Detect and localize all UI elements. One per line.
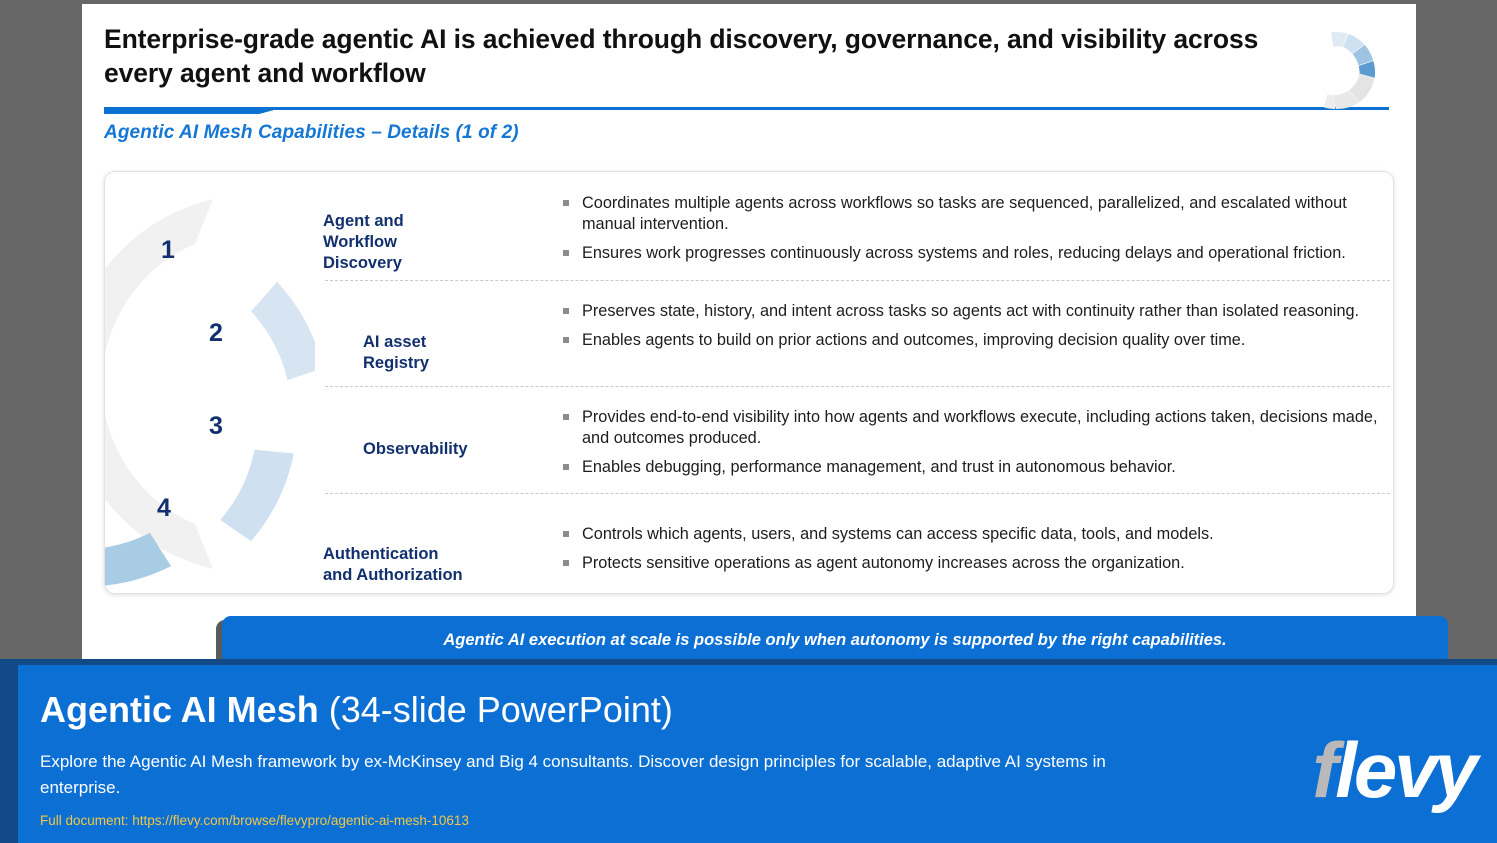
square-bullet-icon bbox=[563, 337, 569, 343]
promo-banner: Agentic AI Mesh (34-slide PowerPoint) Ex… bbox=[0, 659, 1497, 843]
bullet-item: Enables agents to build on prior actions… bbox=[563, 330, 1395, 351]
promo-title-light: (34-slide PowerPoint) bbox=[319, 689, 673, 730]
bullet-item: Protects sensitive operations as agent a… bbox=[563, 553, 1395, 574]
capability-label-2: AI asset Registry bbox=[225, 280, 465, 374]
capability-row-1: Agent and Workflow Discovery Coordinates… bbox=[225, 174, 1395, 280]
capability-bullets-2: Preserves state, history, and intent acr… bbox=[465, 280, 1395, 359]
page-title: Enterprise-grade agentic AI is achieved … bbox=[104, 22, 1319, 91]
bullet-text: Enables debugging, performance managemen… bbox=[582, 457, 1395, 478]
arc-number-4: 4 bbox=[149, 494, 179, 523]
square-bullet-icon bbox=[563, 200, 569, 206]
square-bullet-icon bbox=[563, 464, 569, 470]
page-subtitle: Agentic AI Mesh Capabilities – Details (… bbox=[104, 122, 519, 144]
bullet-text: Protects sensitive operations as agent a… bbox=[582, 553, 1395, 574]
bullet-text: Coordinates multiple agents across workf… bbox=[582, 193, 1395, 235]
capability-bullets-1: Coordinates multiple agents across workf… bbox=[465, 174, 1395, 273]
bullet-item: Enables debugging, performance managemen… bbox=[563, 457, 1395, 478]
promo-description: Explore the Agentic AI Mesh framework by… bbox=[40, 749, 1110, 801]
capability-bullets-4: Controls which agents, users, and system… bbox=[465, 493, 1395, 582]
capability-label-1: Agent and Workflow Discovery bbox=[225, 174, 465, 274]
bullet-text: Ensures work progresses continuously acr… bbox=[582, 243, 1395, 264]
capabilities-card: 1 2 3 4 Agent and Workflow Discovery Coo… bbox=[104, 171, 1394, 594]
bullet-item: Provides end-to-end visibility into how … bbox=[563, 407, 1395, 449]
capability-label-3: Observability bbox=[225, 386, 465, 460]
flevy-logo-levy: levy bbox=[1335, 726, 1475, 814]
square-bullet-icon bbox=[563, 250, 569, 256]
title-divider-thin bbox=[259, 107, 1389, 110]
arc-number-1: 1 bbox=[153, 236, 183, 265]
promo-title: Agentic AI Mesh (34-slide PowerPoint) bbox=[40, 689, 673, 731]
promo-link[interactable]: Full document: https://flevy.com/browse/… bbox=[40, 813, 469, 828]
screenshot-root: Enterprise-grade agentic AI is achieved … bbox=[0, 0, 1497, 843]
bullet-text: Provides end-to-end visibility into how … bbox=[582, 407, 1395, 449]
flevy-logo-f: f bbox=[1312, 726, 1335, 814]
capability-bullets-3: Provides end-to-end visibility into how … bbox=[465, 386, 1395, 487]
capability-label-4: Authentication and Authorization bbox=[225, 493, 465, 586]
callout-banner: Agentic AI execution at scale is possibl… bbox=[222, 616, 1448, 664]
promo-title-bold: Agentic AI Mesh bbox=[40, 689, 319, 730]
slide-canvas: Enterprise-grade agentic AI is achieved … bbox=[82, 4, 1416, 659]
square-bullet-icon bbox=[563, 414, 569, 420]
bullet-item: Controls which agents, users, and system… bbox=[563, 524, 1395, 545]
capability-row-4: Authentication and Authorization Control… bbox=[225, 493, 1395, 593]
capability-row-2: AI asset Registry Preserves state, histo… bbox=[225, 280, 1395, 386]
square-bullet-icon bbox=[563, 560, 569, 566]
capability-rows: Agent and Workflow Discovery Coordinates… bbox=[225, 174, 1395, 593]
square-bullet-icon bbox=[563, 531, 569, 537]
title-divider-thick bbox=[104, 107, 259, 114]
bullet-text: Controls which agents, users, and system… bbox=[582, 524, 1395, 545]
capability-row-3: Observability Provides end-to-end visibi… bbox=[225, 386, 1395, 493]
bullet-text: Preserves state, history, and intent acr… bbox=[582, 301, 1395, 322]
square-bullet-icon bbox=[563, 308, 569, 314]
bullet-item: Preserves state, history, and intent acr… bbox=[563, 301, 1395, 322]
bullet-item: Ensures work progresses continuously acr… bbox=[563, 243, 1395, 264]
title-divider-taper bbox=[259, 107, 285, 114]
flevy-logo: flevy bbox=[1312, 731, 1475, 809]
bullet-text: Enables agents to build on prior actions… bbox=[582, 330, 1395, 351]
bullet-item: Coordinates multiple agents across workf… bbox=[563, 193, 1395, 235]
header-donut-icon bbox=[1314, 18, 1396, 110]
title-divider bbox=[104, 107, 1389, 114]
